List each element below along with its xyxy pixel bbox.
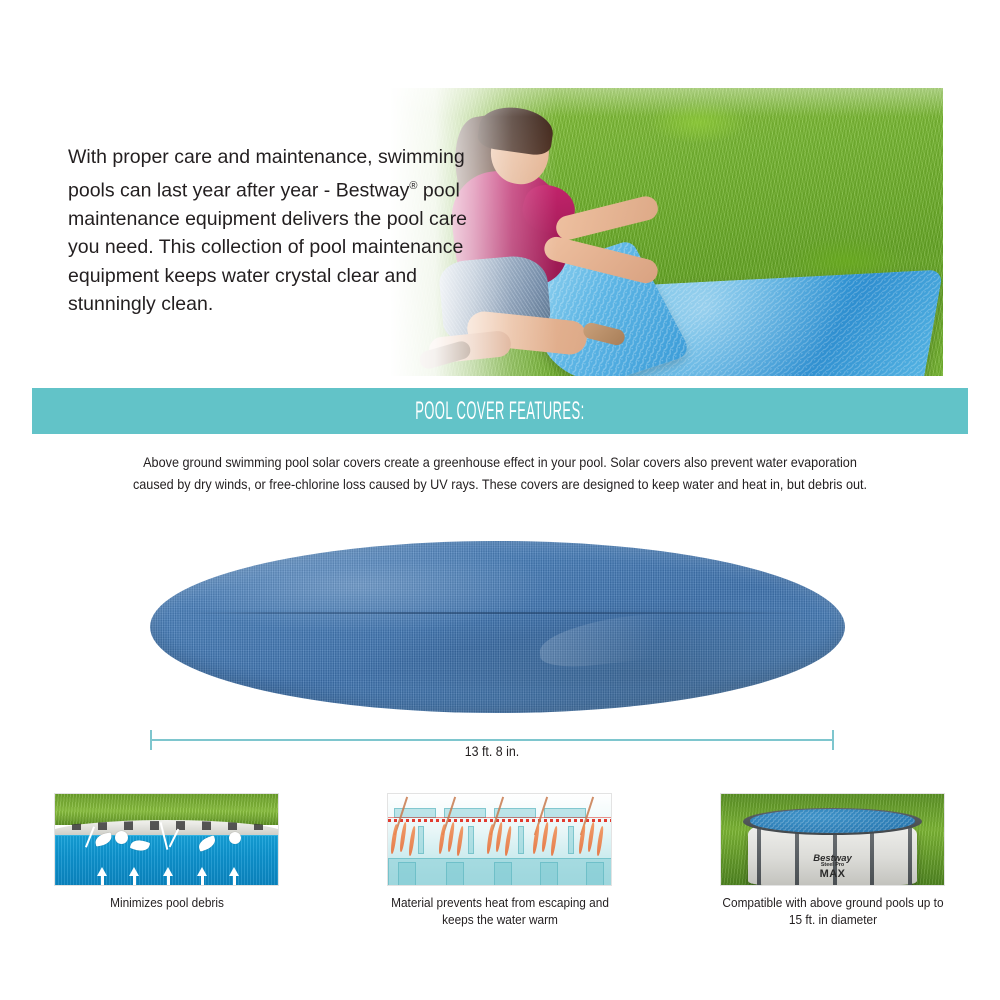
feature-caption: Compatible with above ground pools up to… bbox=[715, 895, 950, 928]
water-column bbox=[568, 826, 574, 854]
solar-cover-product-image bbox=[150, 541, 845, 713]
pool-compatibility-icon: Bestway Steel Pro MAX bbox=[720, 793, 945, 886]
heat-retention-icon bbox=[387, 793, 612, 886]
flow-arrow bbox=[197, 867, 207, 876]
water-column bbox=[418, 826, 424, 854]
registered-mark: ® bbox=[409, 180, 417, 192]
water-block bbox=[494, 862, 512, 886]
pool-solar-cover bbox=[750, 809, 915, 833]
water-block bbox=[540, 862, 558, 886]
water-column bbox=[518, 826, 524, 854]
flow-arrow bbox=[163, 867, 173, 876]
flow-arrow bbox=[229, 867, 239, 876]
feature-caption: Material prevents heat from escaping and… bbox=[382, 895, 617, 928]
feature-row: Minimizes pool debris bbox=[0, 793, 1000, 928]
water-column bbox=[468, 826, 474, 854]
hero-section: With proper care and maintenance, swimmi… bbox=[0, 0, 1000, 380]
pool-rim-caps bbox=[54, 821, 279, 830]
cover-seam bbox=[171, 612, 824, 614]
water-block bbox=[586, 862, 604, 886]
intro-paragraph: With proper care and maintenance, swimmi… bbox=[68, 143, 468, 319]
feature-item: Minimizes pool debris bbox=[0, 793, 333, 928]
dimension-label: 13 ft. 8 in. bbox=[39, 744, 944, 759]
feature-item: Material prevents heat from escaping and… bbox=[333, 793, 666, 928]
pool-debris-icon bbox=[54, 793, 279, 886]
dimension-rule bbox=[150, 739, 834, 741]
barrier-dots bbox=[388, 819, 611, 822]
banner-title: POOL COVER FEATURES: bbox=[415, 397, 584, 426]
feature-item: Bestway Steel Pro MAX Compatible with ab… bbox=[666, 793, 999, 928]
flow-arrow bbox=[129, 867, 139, 876]
cover-ellipse bbox=[150, 541, 845, 713]
features-banner: POOL COVER FEATURES: bbox=[32, 388, 968, 434]
water-block bbox=[446, 862, 464, 886]
brand-model: MAX bbox=[721, 869, 944, 881]
features-description: Above ground swimming pool solar covers … bbox=[128, 452, 872, 496]
flow-arrow bbox=[97, 867, 107, 876]
feature-caption: Minimizes pool debris bbox=[49, 895, 284, 912]
water-block bbox=[398, 862, 416, 886]
debris-flower bbox=[115, 831, 128, 844]
debris-flower bbox=[229, 832, 241, 844]
